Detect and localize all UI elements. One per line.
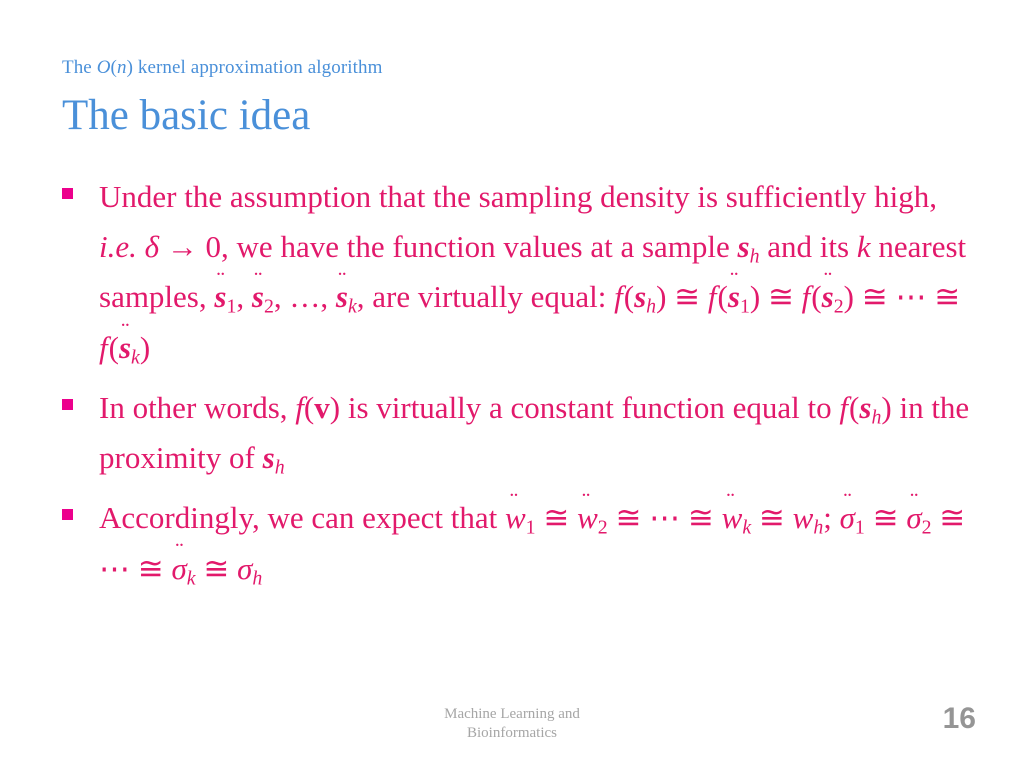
b2-sub-h: h xyxy=(275,457,285,479)
b3-sigma-h: σ xyxy=(237,551,252,586)
b1-sub-1: 1 xyxy=(226,296,236,318)
b2-f2-arg-s: s xyxy=(859,390,871,425)
b1-f3-arg-base: s xyxy=(822,279,834,314)
b1-f2-arg-sdd: ¨s xyxy=(728,272,740,322)
bullet-assumption-text: Under the assumption that the sampling d… xyxy=(99,172,982,373)
b3-cong-1: ≅ xyxy=(543,500,569,535)
slide: The O(n) kernel approximation algorithm … xyxy=(0,0,1024,768)
b1-seg-t4: and its xyxy=(760,229,857,264)
kicker-big-o: O xyxy=(97,57,111,78)
b3-ellipsis-2: ⋯ xyxy=(99,551,130,586)
b3-sigmadd-k-base: σ xyxy=(171,551,186,586)
b3-sigma-sub-h: h xyxy=(252,567,262,589)
b2-vector-v: v xyxy=(314,390,330,425)
b3-sigmadd-2-base: σ xyxy=(906,500,921,535)
bullet-list: Under the assumption that the sampling d… xyxy=(62,172,982,604)
b2-paren-close: ) xyxy=(330,390,340,425)
b3-wdd-1-base: w xyxy=(505,500,526,535)
b3-cong-4: ≅ xyxy=(759,500,785,535)
bullet-square-icon xyxy=(62,188,73,199)
bullet-square-icon xyxy=(62,509,73,520)
b1-var-k: k xyxy=(857,229,871,264)
b1-vector-s: s xyxy=(738,229,750,264)
b2-paren-open: ( xyxy=(304,390,314,425)
b2-seg-t2: is virtually a constant function equal t… xyxy=(340,390,839,425)
b1-f4-sub-k: k xyxy=(131,346,140,368)
b3-sigma-sub-1: 1 xyxy=(855,517,865,539)
b1-f4-open: ( xyxy=(109,330,119,365)
b3-semicolon: ; xyxy=(823,500,839,535)
b3-cong-2: ≅ xyxy=(615,500,641,535)
b1-f4-arg-base: s xyxy=(119,330,131,365)
bullet-square-icon xyxy=(62,399,73,410)
b2-seg-t1: In other words, xyxy=(99,390,295,425)
b1-f3-close: ) xyxy=(844,279,854,314)
b1-comma-2: , xyxy=(274,279,290,314)
b1-sub-h: h xyxy=(750,246,760,268)
kicker-var-n: n xyxy=(117,57,127,78)
b1-seg-t1: Under the assumption that the sampling d… xyxy=(99,179,937,214)
b3-sub-k: k xyxy=(742,517,751,539)
b2-f-2: f xyxy=(839,390,849,425)
b1-seg-t6: , are virtually equal: xyxy=(357,279,614,314)
b3-cong-8: ≅ xyxy=(203,551,229,586)
b1-sdd-1: ¨s xyxy=(214,272,226,322)
bullet-constant-function-text: In other words, f(v) is virtually a cons… xyxy=(99,383,982,483)
b1-zero: 0 xyxy=(206,229,222,264)
b1-sub-2: 2 xyxy=(264,296,274,318)
b3-sigmadd-k: ¨σ xyxy=(171,544,186,594)
b1-f4-arg-sdd: ¨s xyxy=(119,323,131,373)
b3-ellipsis-1: ⋯ xyxy=(649,500,680,535)
b3-sigma-sub-2: 2 xyxy=(922,517,932,539)
b1-f2-sub-1: 1 xyxy=(740,296,750,318)
b1-cong-1: ≅ xyxy=(674,279,700,314)
b1-cong-3: ≅ xyxy=(862,279,888,314)
b1-f2-close: ) xyxy=(750,279,760,314)
b3-cong-3: ≅ xyxy=(688,500,714,535)
b1-comma-3: , xyxy=(320,279,336,314)
b3-sigmadd-2: ¨σ xyxy=(906,493,921,543)
slide-footer: Machine Learning and Bioinformatics xyxy=(0,705,1024,743)
b3-sub-1: 1 xyxy=(526,517,536,539)
b2-vector-s: s xyxy=(263,440,275,475)
b1-f-4: f xyxy=(99,330,109,365)
b1-f1-close: ) xyxy=(656,279,666,314)
b1-comma-1: , xyxy=(236,279,252,314)
b1-cong-4: ≅ xyxy=(934,279,960,314)
b1-ellipsis-2: ⋯ xyxy=(895,279,926,314)
kicker-text-pre: The xyxy=(62,57,97,78)
b1-sdd-k-base: s xyxy=(336,279,348,314)
b1-seg-t3: , we have the function values at a sampl… xyxy=(221,229,737,264)
bullet-weights-sigmas-text: Accordingly, we can expect that ¨w1 ≅ ¨w… xyxy=(99,493,982,593)
b1-f3-arg-sdd: ¨s xyxy=(822,272,834,322)
list-item: In other words, f(v) is virtually a cons… xyxy=(62,383,982,483)
b1-sdd-2-base: s xyxy=(252,279,264,314)
b1-f1-open: ( xyxy=(624,279,634,314)
b3-sigma-sub-k: k xyxy=(187,567,196,589)
b1-f-1: f xyxy=(614,279,624,314)
b1-f3-sub-2: 2 xyxy=(834,296,844,318)
b3-sub-h-1: h xyxy=(813,517,823,539)
b1-delta: δ xyxy=(145,229,159,264)
b1-f2-arg-base: s xyxy=(728,279,740,314)
b3-sigmadd-1-base: σ xyxy=(840,500,855,535)
b3-wdd-2-base: w xyxy=(577,500,598,535)
b1-cong-2: ≅ xyxy=(768,279,794,314)
list-item: Under the assumption that the sampling d… xyxy=(62,172,982,373)
b1-f1-sub-h: h xyxy=(646,296,656,318)
footer-line-1: Machine Learning and xyxy=(0,705,1024,724)
slide-kicker: The O(n) kernel approximation algorithm xyxy=(62,57,383,79)
footer-line-2: Bioinformatics xyxy=(0,724,1024,743)
b3-seg-t1: Accordingly, we can expect that xyxy=(99,500,505,535)
b1-f2-open: ( xyxy=(718,279,728,314)
b2-f2-close: ) xyxy=(881,390,891,425)
b2-f-1: f xyxy=(295,390,304,425)
b1-sub-k: k xyxy=(348,296,357,318)
b1-sdd-k: ¨s xyxy=(336,272,348,322)
b1-f4-close: ) xyxy=(140,330,150,365)
page-title: The basic idea xyxy=(62,92,310,140)
b3-cong-7: ≅ xyxy=(138,551,164,586)
b1-f-3: f xyxy=(802,279,812,314)
b1-f1-arg-s: s xyxy=(634,279,646,314)
b1-f3-open: ( xyxy=(811,279,821,314)
b3-cong-5: ≅ xyxy=(873,500,899,535)
b1-sdd-2: ¨s xyxy=(252,272,264,322)
b3-wdd-k: ¨w xyxy=(722,493,743,543)
b3-sub-2: 2 xyxy=(598,517,608,539)
b3-w-h: w xyxy=(793,500,814,535)
b2-f2-open: ( xyxy=(849,390,859,425)
b1-seg-ie: i.e. xyxy=(99,229,137,264)
list-item: Accordingly, we can expect that ¨w1 ≅ ¨w… xyxy=(62,493,982,593)
b3-wdd-k-base: w xyxy=(722,500,743,535)
b2-f2-sub-h: h xyxy=(871,406,881,428)
b3-cong-6: ≅ xyxy=(939,500,965,535)
page-number: 16 xyxy=(943,702,976,736)
b3-wdd-2: ¨w xyxy=(577,493,598,543)
b1-ellipsis-1: … xyxy=(289,279,320,314)
kicker-text-post: kernel approximation algorithm xyxy=(133,57,383,78)
b1-seg-t2 xyxy=(137,229,145,264)
b1-f-2: f xyxy=(708,279,718,314)
b3-sigmadd-1: ¨σ xyxy=(840,493,855,543)
b1-sdd-1-base: s xyxy=(214,279,226,314)
b3-wdd-1: ¨w xyxy=(505,493,526,543)
b1-arrow: → xyxy=(159,229,206,264)
